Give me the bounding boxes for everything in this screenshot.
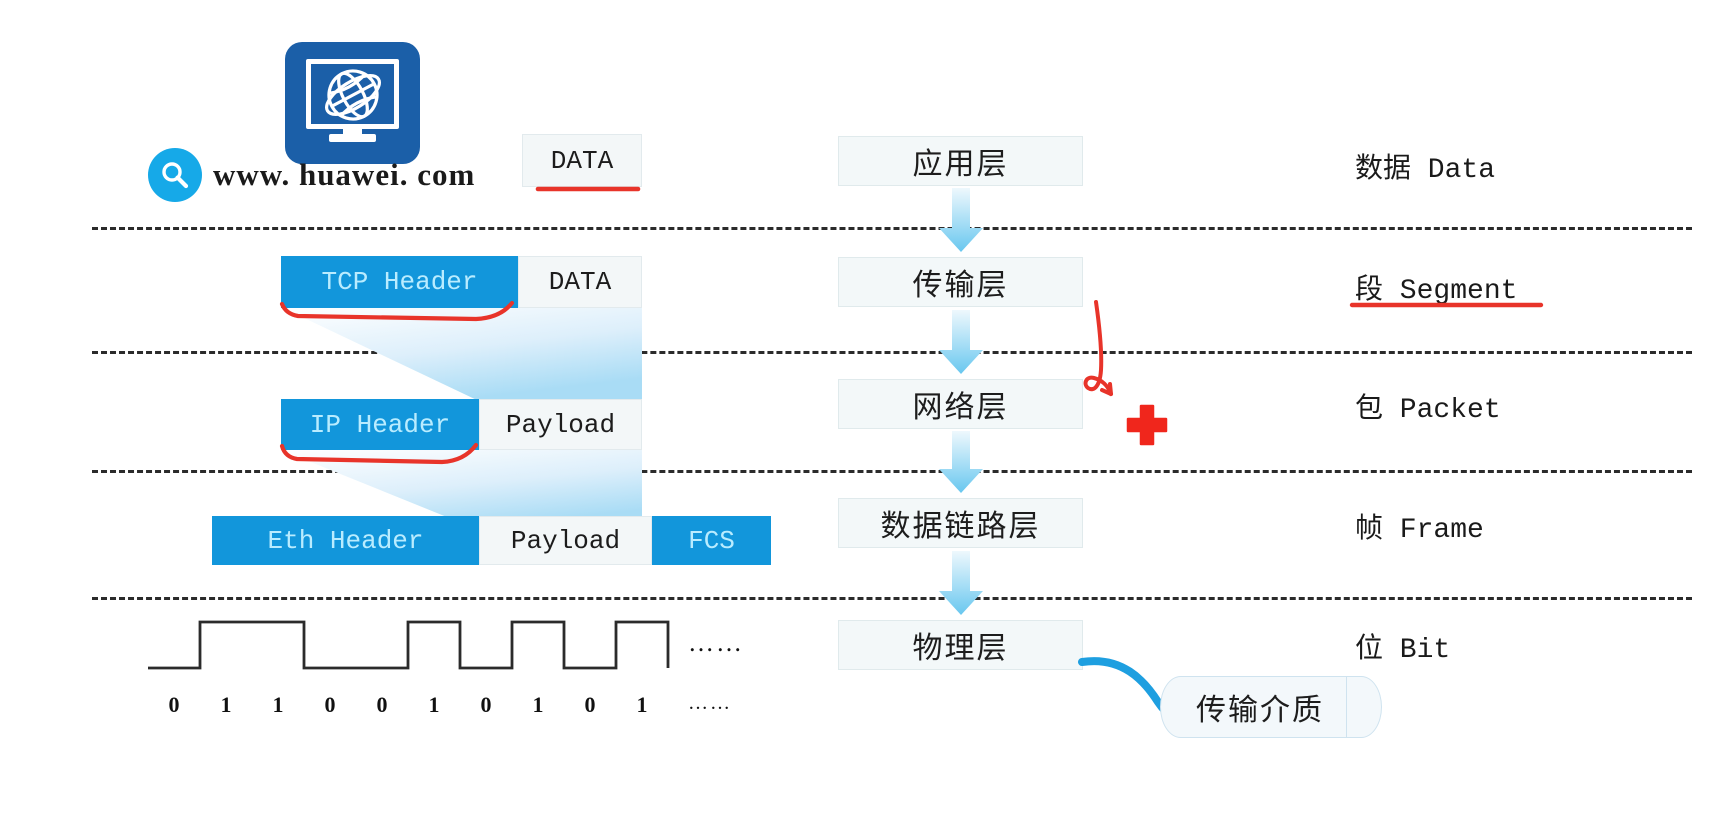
globe-icon <box>313 64 393 126</box>
site-url-label: www. huawei. com <box>213 157 475 193</box>
monitor-stand <box>329 134 376 142</box>
pdu-label-data: 数据 Data <box>1355 146 1495 186</box>
separator-datalink-physical <box>92 597 1692 600</box>
cylinder-cap <box>1346 677 1381 737</box>
bit-label: 1 <box>252 692 304 718</box>
bit-label: 0 <box>564 692 616 718</box>
down-arrow-app-to-transport <box>938 188 984 254</box>
pdu-field-payload-network: Payload <box>479 399 642 450</box>
separator-network-datalink <box>92 470 1692 473</box>
pdu-field-ip-header: IP Header <box>281 399 479 450</box>
bit-label: 0 <box>148 692 200 718</box>
down-arrow-datalink-to-physical <box>938 551 984 617</box>
pdu-field-tcp-header: TCP Header <box>281 256 518 308</box>
waveform-trailing-dots: …… <box>688 628 744 658</box>
bit-labels-row: 0 1 1 0 0 1 0 1 0 1 <box>148 692 668 718</box>
pdu-label-segment: 段 Segment <box>1355 267 1517 307</box>
bit-label: 1 <box>408 692 460 718</box>
separator-transport-network <box>92 351 1692 354</box>
down-arrow-network-to-datalink <box>938 431 984 495</box>
bit-label: 1 <box>200 692 252 718</box>
pdu-field-payload-datalink: Payload <box>479 516 652 565</box>
bit-label: 0 <box>356 692 408 718</box>
bit-label: 0 <box>460 692 512 718</box>
red-cross-marker <box>1125 403 1169 447</box>
pdu-label-bit: 位 Bit <box>1355 626 1450 666</box>
red-hand-drawn-hook-arrow <box>1080 300 1150 410</box>
pdu-field-eth-header: Eth Header <box>212 516 479 565</box>
bit-trailing-dots: …… <box>688 692 732 715</box>
computer-globe-icon <box>285 42 420 164</box>
separator-application-transport <box>92 227 1692 230</box>
pdu-label-packet: 包 Packet <box>1355 386 1501 426</box>
layer-physical[interactable]: 物理层 <box>838 620 1083 670</box>
diagram-canvas: www. huawei. com DATA TCP Header DATA <box>0 0 1723 826</box>
pdu-field-data-app: DATA <box>522 134 642 187</box>
bit-label: 1 <box>616 692 668 718</box>
pdu-field-fcs: FCS <box>652 516 771 565</box>
magnifier-glyph <box>159 159 191 191</box>
transmission-medium-label: 传输介质 <box>1196 685 1324 729</box>
down-arrow-transport-to-network <box>938 310 984 376</box>
bit-label: 0 <box>304 692 356 718</box>
pdu-label-frame: 帧 Frame <box>1355 506 1484 546</box>
transmission-medium[interactable]: 传输介质 <box>1160 676 1382 738</box>
search-magnifier-icon <box>148 148 202 202</box>
layer-transport[interactable]: 传输层 <box>838 257 1083 307</box>
layer-network[interactable]: 网络层 <box>838 379 1083 429</box>
pdu-field-data-transport: DATA <box>518 256 642 308</box>
layer-datalink[interactable]: 数据链路层 <box>838 498 1083 548</box>
bit-label: 1 <box>512 692 564 718</box>
funnel-transport-to-network <box>281 307 646 402</box>
layer-application[interactable]: 应用层 <box>838 136 1083 186</box>
bit-waveform <box>148 616 688 676</box>
